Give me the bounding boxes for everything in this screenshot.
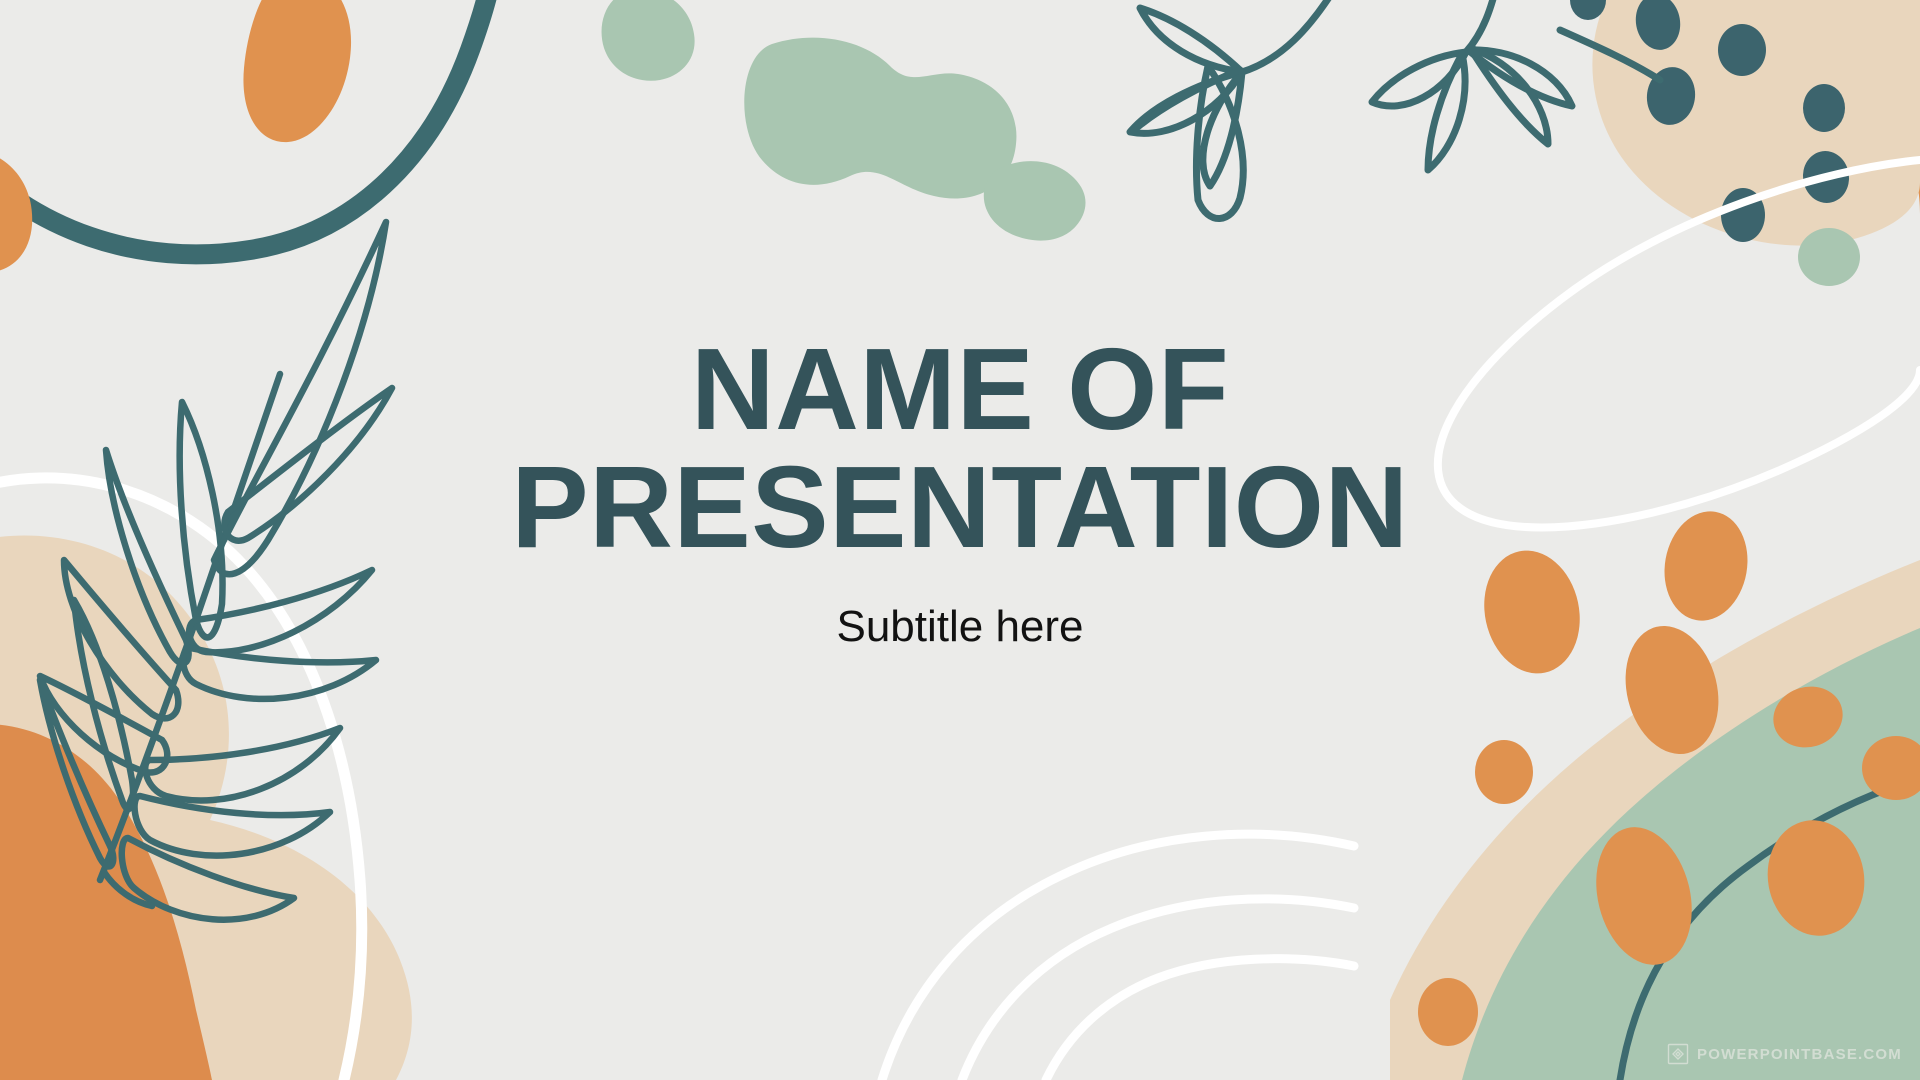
page-title: NAME OF PRESENTATION — [400, 330, 1520, 567]
page-subtitle: Subtitle here — [400, 601, 1520, 654]
sage-dot — [1798, 228, 1860, 286]
teal-dot — [1718, 24, 1766, 76]
orange-ellipse — [1418, 978, 1478, 1046]
rhombus-logo-icon — [1666, 1042, 1690, 1066]
orange-ellipse — [1475, 740, 1533, 804]
watermark-text: POWERPOINTBASE.COM — [1697, 1046, 1902, 1063]
teal-dot — [1803, 84, 1845, 132]
watermark: POWERPOINTBASE.COM — [1666, 1042, 1902, 1066]
title-text-block: NAME OF PRESENTATION Subtitle here — [400, 330, 1520, 653]
presentation-slide: NAME OF PRESENTATION Subtitle here POWER… — [0, 0, 1920, 1080]
